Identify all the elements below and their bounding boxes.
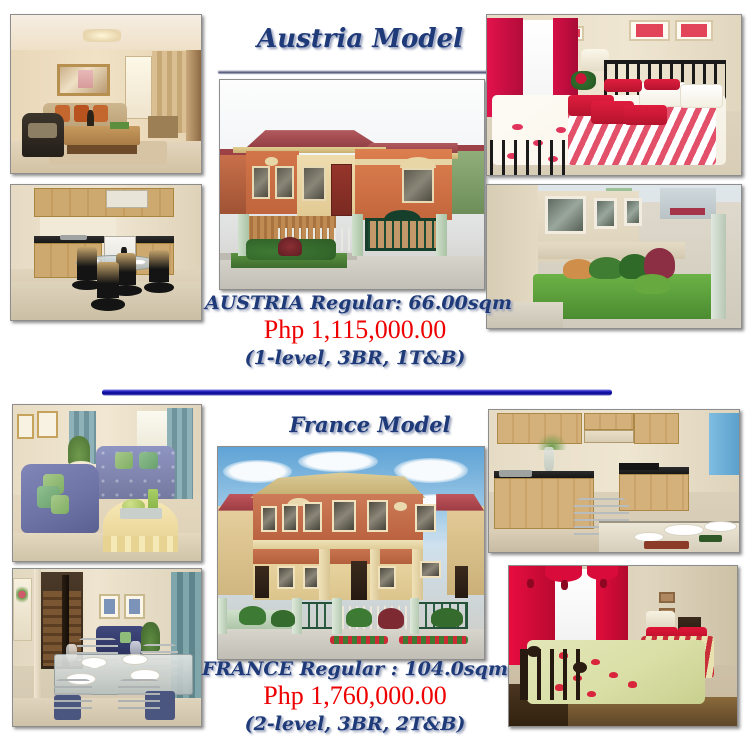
france-model-title: France Model: [250, 412, 490, 437]
austria-living-room-photo: [10, 14, 202, 174]
austria-bedroom-image: [487, 15, 741, 175]
france-bedroom-image: [509, 566, 737, 726]
france-dining-photo: [12, 568, 202, 727]
austria-model-title: Austria Model: [215, 24, 505, 54]
france-detail-line: (2-level, 3BR, 2T&B): [200, 713, 510, 735]
austria-bedroom-photo: [486, 14, 742, 176]
austria-detail-line: (1-level, 3BR, 1T&B): [205, 347, 505, 369]
austria-garden-photo: [486, 184, 742, 329]
france-house-exterior-photo: [217, 446, 485, 660]
france-living-room-image: [13, 405, 201, 561]
austria-price-line: Php 1,115,000.00: [205, 315, 505, 345]
austria-title-underline: [218, 70, 502, 74]
austria-caption: AUSTRIA Regular: 66.00sqm Php 1,115,000.…: [205, 292, 505, 369]
france-dining-image: [13, 569, 201, 726]
france-living-room-photo: [12, 404, 202, 562]
france-caption: FRANCE Regular : 104.0sqm Php 1,760,000.…: [200, 658, 510, 735]
france-house-exterior-image: [218, 447, 484, 659]
austria-spec-line: AUSTRIA Regular: 66.00sqm: [205, 292, 505, 314]
austria-house-exterior-image: [220, 80, 484, 289]
france-bedroom-photo: [508, 565, 738, 727]
france-kitchen-image: [489, 410, 739, 552]
france-kitchen-photo: [488, 409, 740, 553]
france-spec-line: FRANCE Regular : 104.0sqm: [200, 658, 510, 680]
austria-kitchen-photo: [10, 184, 202, 321]
section-divider: [102, 389, 612, 396]
austria-garden-image: [487, 185, 741, 328]
france-price-line: Php 1,760,000.00: [200, 681, 510, 711]
austria-kitchen-image: [11, 185, 201, 320]
austria-living-room-image: [11, 15, 201, 173]
austria-house-exterior-photo: [219, 79, 485, 290]
